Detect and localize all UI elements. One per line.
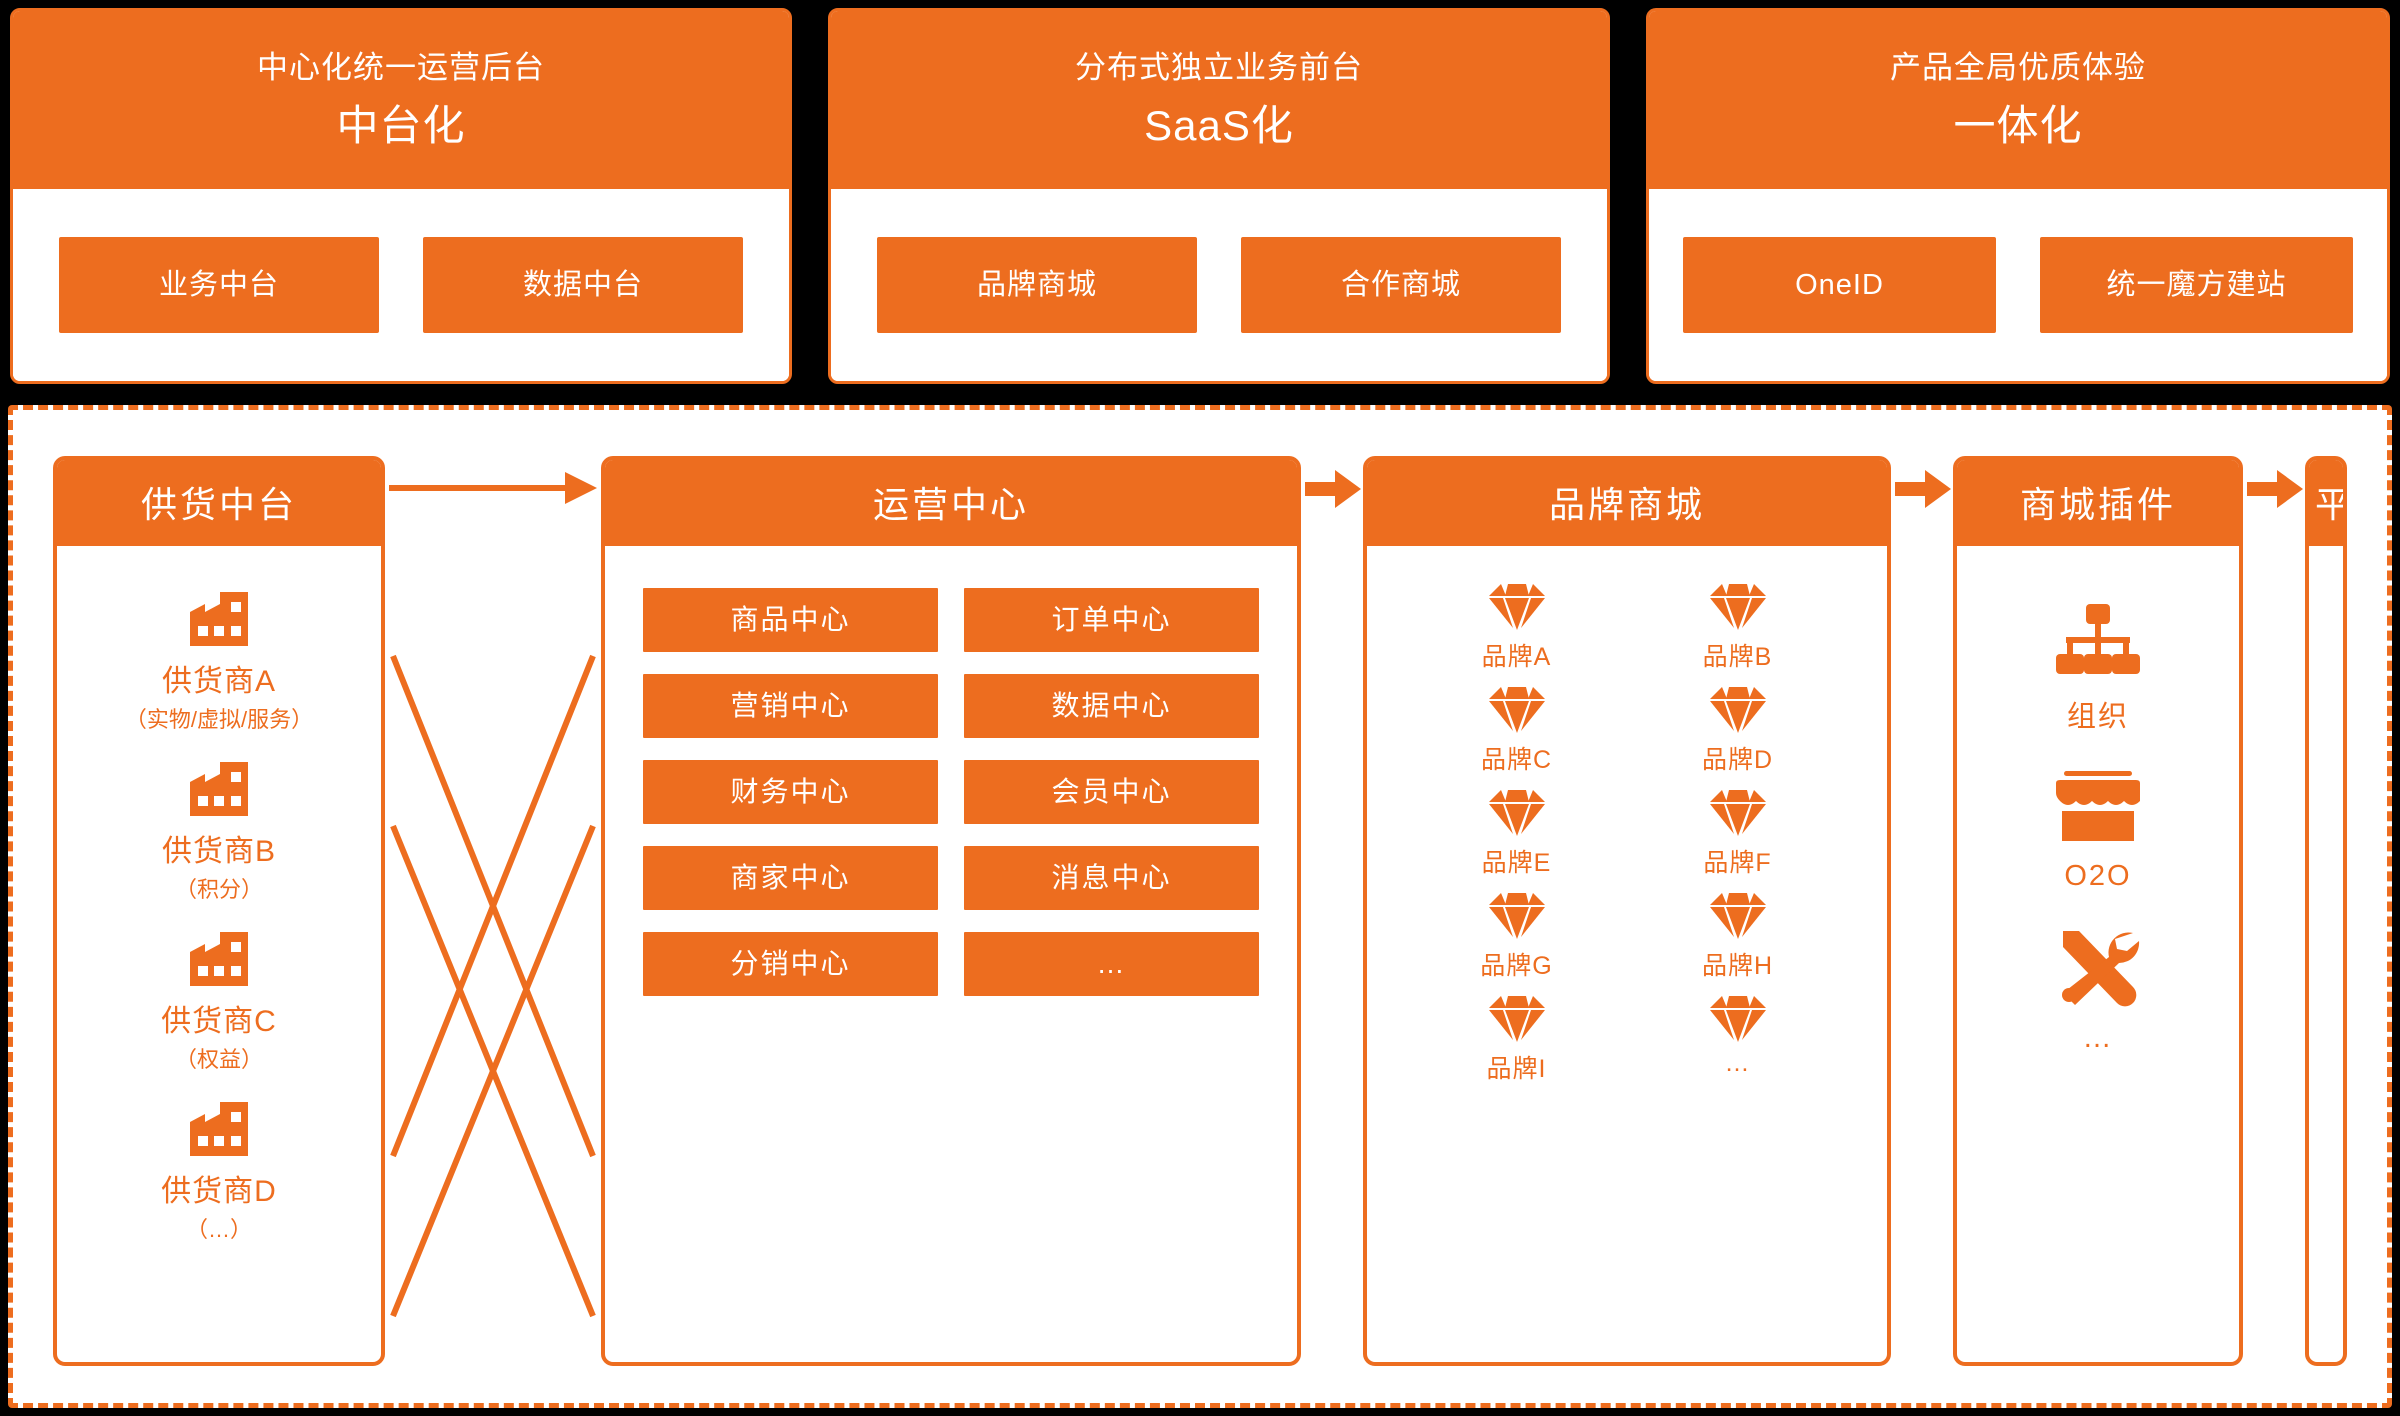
list-item[interactable]: 组织 <box>2054 604 2142 735</box>
brand-name: 品牌B <box>1632 637 1843 673</box>
member-grid: 个人会员 个人会员 <box>2323 568 2347 1106</box>
strategy-panel-zhongtaihua[interactable]: 中心化统一运营后台 中台化 业务中台 数据中台 <box>10 8 792 384</box>
diamond-icon <box>1489 1029 1545 1046</box>
panel-subtitle: 中心化统一运营后台 <box>23 49 779 88</box>
supplier-name: 供货商D <box>161 1166 277 1210</box>
chip-unified-site-builder[interactable]: 统一魔方建站 <box>2040 237 2353 333</box>
factory-icon <box>161 926 277 986</box>
chip-brand-mall[interactable]: 品牌商城 <box>877 237 1197 333</box>
supplier-note: （…） <box>161 1212 277 1244</box>
card-platform-member[interactable]: 平台会员 个人会员 <box>2305 456 2347 1366</box>
panel-chip-row: 品牌商城 合作商城 <box>831 189 1607 381</box>
brand-name: 品牌D <box>1632 740 1843 776</box>
diamond-icon <box>1489 823 1545 840</box>
diamond-icon <box>1489 617 1545 634</box>
list-item[interactable]: 品牌G <box>1411 891 1622 982</box>
plugin-list: 组织 O2O <box>1971 568 2225 1055</box>
list-item[interactable]: 品牌E <box>1411 788 1622 879</box>
card-body: 商品中心 订单中心 营销中心 数据中心 财务中心 会员中心 商家中心 消息中心 … <box>605 546 1297 1362</box>
diamond-icon <box>1710 617 1766 634</box>
list-item[interactable]: 供货商B （积分） <box>162 756 276 904</box>
card-title: 品牌商城 <box>1367 460 1887 546</box>
panel-header: 中心化统一运营后台 中台化 <box>13 11 789 189</box>
list-item[interactable]: 品牌A <box>1411 582 1622 673</box>
storefront-icon <box>2052 832 2144 849</box>
factory-icon <box>162 756 276 816</box>
org-chart-icon <box>2054 665 2142 682</box>
chip-oneid[interactable]: OneID <box>1683 237 1996 333</box>
supplier-list: 供货商A （实物/虚拟/服务） <box>71 568 367 1244</box>
supplier-name: 供货商B <box>162 826 276 870</box>
panel-header: 产品全局优质体验 一体化 <box>1649 11 2387 189</box>
list-item[interactable]: 品牌H <box>1632 891 1843 982</box>
diamond-icon <box>1710 1029 1766 1046</box>
arrow-head-icon <box>565 472 597 504</box>
card-operation-center[interactable]: 运营中心 商品中心 订单中心 营销中心 数据中心 财务中心 会员中心 商家中心 … <box>601 456 1301 1366</box>
list-item[interactable]: … <box>2055 929 2141 1055</box>
supplier-note: （积分） <box>162 872 276 904</box>
brand-name: 品牌A <box>1411 637 1622 673</box>
card-mall-plugins[interactable]: 商城插件 <box>1953 456 2243 1366</box>
card-body: 供货商A （实物/虚拟/服务） <box>57 546 381 1362</box>
ops-module-more[interactable]: … <box>964 932 1259 996</box>
card-body: 组织 O2O <box>1957 546 2239 1362</box>
brand-name: 品牌C <box>1411 740 1622 776</box>
brand-name: 品牌E <box>1411 843 1622 879</box>
list-item[interactable]: 品牌C <box>1411 685 1622 776</box>
ops-module-product[interactable]: 商品中心 <box>643 588 938 652</box>
diamond-icon <box>1710 823 1766 840</box>
brand-grid: 品牌A <box>1381 568 1873 1085</box>
chip-data-midplatform[interactable]: 数据中台 <box>423 237 743 333</box>
ops-module-data[interactable]: 数据中心 <box>964 674 1259 738</box>
ops-module-grid: 商品中心 订单中心 营销中心 数据中心 财务中心 会员中心 商家中心 消息中心 … <box>619 568 1283 996</box>
list-item[interactable]: 品牌F <box>1632 788 1843 879</box>
panel-chip-row: 业务中台 数据中台 <box>13 189 789 381</box>
plugin-name: … <box>2055 1022 2141 1055</box>
strategy-panel-integration[interactable]: 产品全局优质体验 一体化 OneID 统一魔方建站 <box>1646 8 2390 384</box>
connector-ops-to-brand <box>1301 456 1363 1403</box>
plugin-name: O2O <box>2052 860 2144 893</box>
panel-subtitle: 产品全局优质体验 <box>1659 49 2377 88</box>
list-item[interactable]: 品牌I <box>1411 994 1622 1085</box>
brand-name: 品牌I <box>1411 1049 1622 1085</box>
ops-module-distribution[interactable]: 分销中心 <box>643 932 938 996</box>
panel-subtitle: 分布式独立业务前台 <box>841 49 1597 88</box>
supplier-name: 供货商C <box>161 996 277 1040</box>
panel-header: 分布式独立业务前台 SaaS化 <box>831 11 1607 189</box>
arrow-right-icon <box>1895 470 1951 508</box>
brand-name: 品牌G <box>1411 946 1622 982</box>
supplier-name: 供货商A <box>125 656 313 700</box>
diamond-icon <box>1710 720 1766 737</box>
list-item[interactable]: 供货商C （权益） <box>161 926 277 1074</box>
supplier-note: （权益） <box>161 1042 277 1074</box>
diamond-icon <box>1710 926 1766 943</box>
ops-module-finance[interactable]: 财务中心 <box>643 760 938 824</box>
list-item[interactable]: 供货商A （实物/虚拟/服务） <box>125 586 313 734</box>
arrow-right-icon <box>1305 470 1361 508</box>
diamond-icon <box>1489 720 1545 737</box>
chip-partner-mall[interactable]: 合作商城 <box>1241 237 1561 333</box>
ops-module-message[interactable]: 消息中心 <box>964 846 1259 910</box>
list-item[interactable]: 品牌B <box>1632 582 1843 673</box>
panel-chip-row: OneID 统一魔方建站 <box>1649 189 2387 381</box>
ops-module-order[interactable]: 订单中心 <box>964 588 1259 652</box>
panel-title: 一体化 <box>1659 98 2377 155</box>
card-brand-mall[interactable]: 品牌商城 <box>1363 456 1891 1366</box>
tools-icon <box>2055 994 2141 1011</box>
arrow-right-icon <box>2247 470 2303 508</box>
card-title: 供货中台 <box>57 460 381 546</box>
list-item[interactable]: 品牌D <box>1632 685 1843 776</box>
list-item[interactable]: 供货商D （…） <box>161 1096 277 1244</box>
brand-name: 品牌H <box>1632 946 1843 982</box>
strategy-panel-row: 中心化统一运营后台 中台化 业务中台 数据中台 分布式独立业务前台 SaaS化 … <box>0 0 2400 384</box>
flow-diagram-container: 供货中台 供货商A <box>8 405 2392 1408</box>
strategy-panel-saas[interactable]: 分布式独立业务前台 SaaS化 品牌商城 合作商城 <box>828 8 1610 384</box>
chip-business-midplatform[interactable]: 业务中台 <box>59 237 379 333</box>
card-body: 个人会员 个人会员 <box>2309 546 2343 1362</box>
supplier-note: （实物/虚拟/服务） <box>125 702 313 734</box>
ops-module-marketing[interactable]: 营销中心 <box>643 674 938 738</box>
diamond-icon <box>1489 926 1545 943</box>
brand-name: … <box>1632 1049 1843 1078</box>
card-title: 运营中心 <box>605 460 1297 546</box>
card-title: 平台会员 <box>2309 460 2343 546</box>
list-item[interactable]: … <box>1632 994 1843 1085</box>
list-item[interactable]: O2O <box>2052 771 2144 893</box>
card-title: 商城插件 <box>1957 460 2239 546</box>
ops-module-merchant[interactable]: 商家中心 <box>643 846 938 910</box>
factory-icon <box>161 1096 277 1156</box>
ops-module-member[interactable]: 会员中心 <box>964 760 1259 824</box>
card-supplier-midplatform[interactable]: 供货中台 供货商A <box>53 456 385 1366</box>
plugin-name: 组织 <box>2054 693 2142 735</box>
brand-name: 品牌F <box>1632 843 1843 879</box>
panel-title: 中台化 <box>23 98 779 155</box>
panel-title: SaaS化 <box>841 98 1597 155</box>
connector-plugin-to-member <box>2243 456 2305 1403</box>
connector-brand-to-plugin <box>1891 456 1953 1403</box>
card-body: 品牌A <box>1367 546 1887 1362</box>
connector-supplier-to-ops <box>385 456 601 1403</box>
factory-icon <box>125 586 313 646</box>
